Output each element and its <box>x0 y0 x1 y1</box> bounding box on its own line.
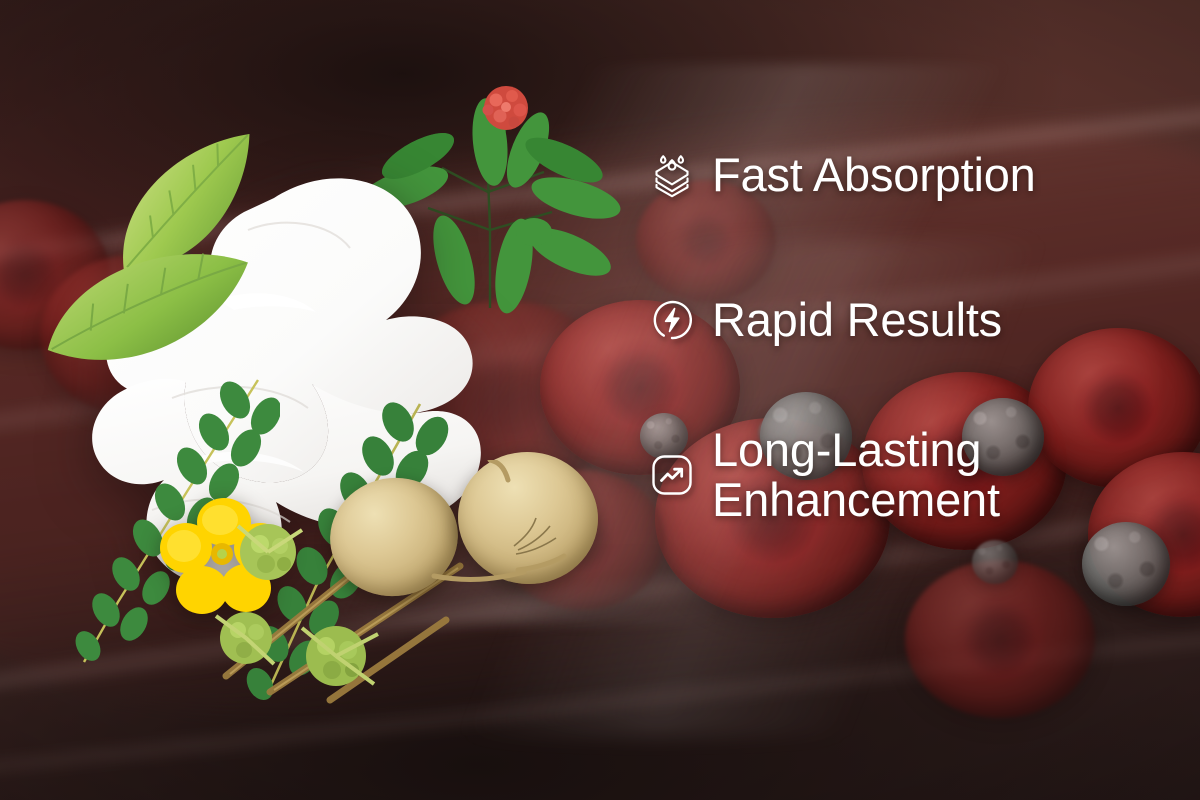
feature-label: Rapid Results <box>712 295 1002 345</box>
feature-fast-absorption[interactable]: Fast Absorption <box>648 150 1036 200</box>
promo-banner: Fast Absorption Rapid Results Long-Lasti… <box>0 0 1200 800</box>
maca-root-tails <box>318 460 618 640</box>
layers-droplets-icon <box>648 151 696 199</box>
lightning-bolt-circle-icon <box>648 296 696 344</box>
feature-label: Fast Absorption <box>712 150 1036 200</box>
feature-label: Long-Lasting Enhancement <box>712 425 1000 525</box>
feature-rapid-results[interactable]: Rapid Results <box>648 295 1002 345</box>
product-composition <box>60 80 620 740</box>
trending-up-square-icon <box>648 451 696 499</box>
feature-long-lasting-enhancement[interactable]: Long-Lasting Enhancement <box>648 425 1000 525</box>
